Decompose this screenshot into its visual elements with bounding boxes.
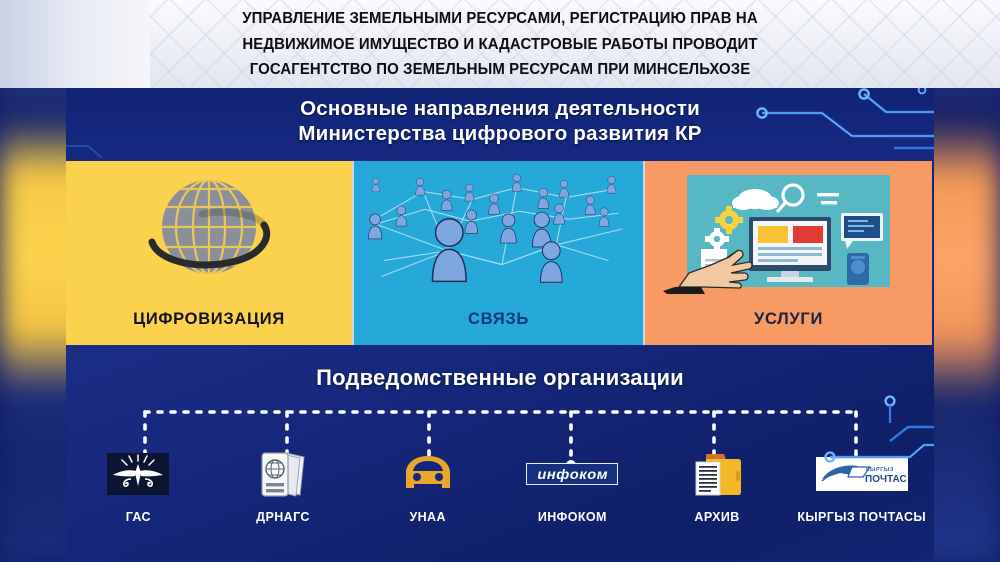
org-item-infocom[interactable]: инфоком ИНФОКОМ [500,446,645,562]
caption-line-2: НЕДВИЖИМОЕ ИМУЩЕСТВО И КАДАСТРОВЫЕ РАБОТ… [124,32,877,58]
globe-orbit-icon [66,169,352,294]
caption-text: УПРАВЛЕНИЕ ЗЕМЕЛЬНЫМИ РЕСУРСАМИ, РЕГИСТР… [18,0,983,83]
globe-orbit-art [66,169,352,294]
org-label-kyrgyz-pochtasy: КЫРГЫЗ ПОЧТАСЫ [789,510,934,524]
online-services-art [645,169,932,294]
org-label-unaa: УНАА [355,510,500,524]
org-label-gas: ГАС [66,510,211,524]
direction-panels: ЦИФРОВИЗАЦИЯ [66,161,934,345]
direction-panel-communication[interactable]: СВЯЗЬ [352,161,645,345]
infographic-title-line-1: Основные направления деятельности [66,97,934,122]
kyrgyz-post-logo-art: КЫРГЫЗ ПОЧТАСЫ [818,459,906,489]
svg-text:КЫРГЫЗ: КЫРГЫЗ [866,467,894,473]
folder-documents-icon [690,451,744,497]
direction-panel-digitalization[interactable]: ЦИФРОВИЗАЦИЯ [66,161,352,345]
caption-line-3: ГОСАГЕНТСТВО ПО ЗЕМЕЛЬНЫМ РЕСУРСАМ ПРИ М… [124,57,877,83]
subordinate-section: Подведомственные организации [66,345,934,562]
infographic-title: Основные направления деятельности Минист… [66,88,934,146]
org-label-arhiv: АРХИВ [645,510,790,524]
caption-band: УПРАВЛЕНИЕ ЗЕМЕЛЬНЫМИ РЕСУРСАМИ, РЕГИСТР… [0,0,1000,88]
direction-label-communication: СВЯЗЬ [354,310,643,329]
org-item-unaa[interactable]: УНАА [355,446,500,562]
org-item-kyrgyz-pochtasy[interactable]: КЫРГЫЗ ПОЧТАСЫ КЫРГЫЗ ПОЧТАСЫ [789,446,934,562]
infographic-title-strip: Основные направления деятельности Минист… [66,88,934,161]
org-label-drnags: ДРНАГС [211,510,356,524]
passport-documents-icon [256,450,310,498]
people-network-art [354,169,643,294]
infocom-logo-wrap: инфоком [500,446,645,502]
car-wrap [355,446,500,502]
direction-label-digitalization: ЦИФРОВИЗАЦИЯ [66,310,352,329]
kyrgyz-post-logo: КЫРГЫЗ ПОЧТАСЫ [816,457,908,491]
winged-emblem-wrap [66,446,211,502]
org-item-arhiv[interactable]: АРХИВ [645,446,790,562]
caption-line-1: УПРАВЛЕНИЕ ЗЕМЕЛЬНЫМИ РЕСУРСАМИ, РЕГИСТР… [124,6,877,32]
direction-label-services: УСЛУГИ [645,310,932,329]
infographic-card: Основные направления деятельности Минист… [66,88,934,562]
car-icon [400,452,456,496]
online-services-icon [645,169,932,294]
org-item-drnags[interactable]: ДРНАГС [211,446,356,562]
kyrgyz-post-logo-wrap: КЫРГЫЗ ПОЧТАСЫ [789,446,934,502]
winged-emblem-icon [107,453,169,495]
infocom-logo: инфоком [526,463,618,485]
svg-text:ПОЧТАСЫ: ПОЧТАСЫ [865,474,906,485]
passport-documents-wrap [211,446,356,502]
org-item-gas[interactable]: ГАС [66,446,211,562]
infographic-title-line-2: Министерства цифрового развития КР [66,122,934,147]
direction-panel-services[interactable]: УСЛУГИ [645,161,932,345]
infocom-logo-text: инфоком [537,466,608,482]
org-label-infocom: ИНФОКОМ [500,510,645,524]
people-network-icon [354,169,643,294]
organizations-row: ГАС [66,446,934,562]
folder-documents-wrap [645,446,790,502]
